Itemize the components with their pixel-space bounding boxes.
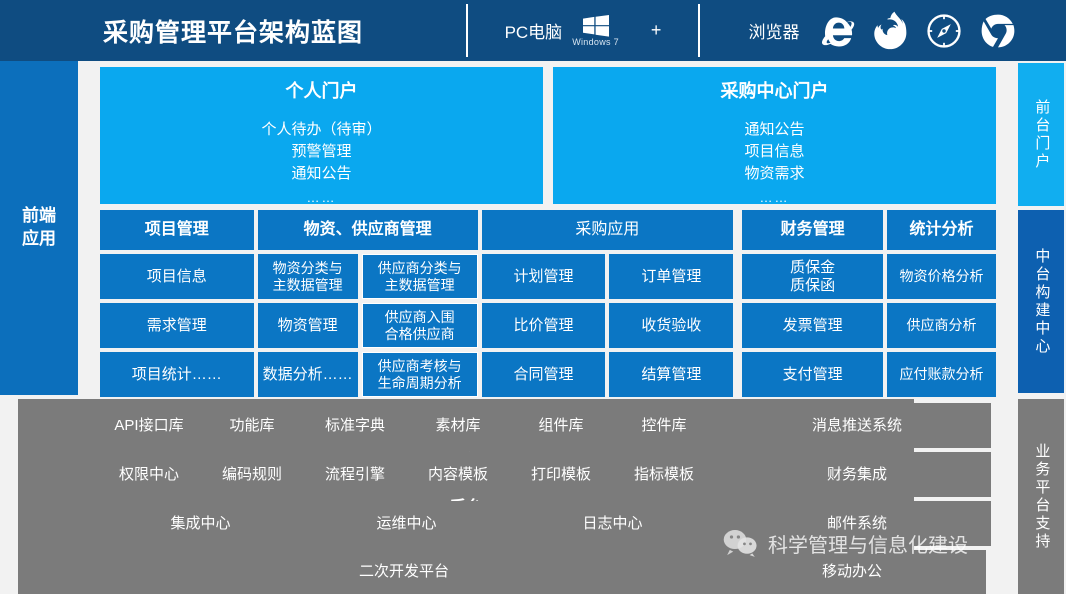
windows-logo-icon: Windows 7 xyxy=(572,15,619,47)
system-cell-coding-rules[interactable]: 编码规则 xyxy=(203,452,301,497)
module-cell-material-price-analysis[interactable]: 物资价格分析 xyxy=(887,254,996,299)
system-row: 集成中心 运维中心 日志中心 邮件系统 xyxy=(100,501,996,546)
module-header-statistical-analysis[interactable]: 统计分析 xyxy=(887,210,996,250)
system-cell-function-library[interactable]: 功能库 xyxy=(203,403,301,448)
portal-personal-title: 个人门户 xyxy=(286,77,358,103)
cell-line: 生命周期分析 xyxy=(378,375,462,391)
diagram-canvas: 个人门户 个人待办（待审） 预警管理 通知公告 …… 采购中心门户 通知公告 项… xyxy=(82,61,1014,594)
portal-item: 项目信息 xyxy=(744,141,804,163)
cell-line: 主数据管理 xyxy=(385,277,455,293)
module-header-project-management[interactable]: 项目管理 xyxy=(100,210,254,250)
pc-label: PC电脑 xyxy=(505,18,563,43)
system-cell-integration-center[interactable]: 集成中心 xyxy=(100,501,301,546)
cell-line: 供应商考核与 xyxy=(378,358,462,374)
cell-line: 主数据管理 xyxy=(273,277,343,293)
system-row: API接口库 功能库 标准字典 素材库 组件库 控件库 消息推送系统 xyxy=(100,403,996,448)
system-cell-log-center[interactable]: 日志中心 xyxy=(512,501,713,546)
cell-line: 供应商分类与 xyxy=(378,260,462,276)
rail-midplatform-center: 中台构建中心 xyxy=(1018,210,1064,393)
portal-procurement-center[interactable]: 采购中心门户 通知公告 项目信息 物资需求 …… xyxy=(553,67,996,204)
module-row: 项目统计…… 数据分析…… 供应商考核与 生命周期分析 合同管理 结算管理 支付… xyxy=(100,352,996,397)
system-cell-mobile-office[interactable]: 移动办公 xyxy=(718,550,986,594)
module-cell-payment-management[interactable]: 支付管理 xyxy=(742,352,883,397)
portal-item: 通知公告 xyxy=(744,119,804,141)
chrome-icon xyxy=(978,11,1018,51)
rail-frontend-line2: 应用 xyxy=(22,228,56,251)
module-row: 项目信息 物资分类与 主数据管理 供应商分类与 主数据管理 计划管理 订单管理 … xyxy=(100,254,996,299)
architecture-blueprint-page: 采购管理平台架构蓝图 PC电脑 Windows 7 + 浏览器 xyxy=(0,0,1066,594)
module-cell-invoice-management[interactable]: 发票管理 xyxy=(742,303,883,348)
system-cell-standard-dictionary[interactable]: 标准字典 xyxy=(306,403,404,448)
portal-item: 通知公告 xyxy=(261,163,381,185)
module-cell-quality-deposit-letter[interactable]: 质保金 质保函 xyxy=(742,254,883,299)
module-cell-payable-account-analysis[interactable]: 应付账款分析 xyxy=(887,352,996,397)
module-header-material-supplier-management[interactable]: 物资、供应商管理 xyxy=(258,210,478,250)
browser-label: 浏览器 xyxy=(749,18,800,43)
module-cell-price-comparison-management[interactable]: 比价管理 xyxy=(482,303,606,348)
firefox-icon xyxy=(870,11,910,51)
portal-personal-items: 个人待办（待审） 预警管理 通知公告 xyxy=(261,119,381,184)
system-cell-permission-center[interactable]: 权限中心 xyxy=(100,452,198,497)
system-cell-financial-integration[interactable]: 财务集成 xyxy=(723,452,991,497)
system-cell-secondary-development-platform[interactable]: 二次开发平台 xyxy=(100,550,708,594)
diagram-body: 前端 应用 系统 管理 后台 引擎 前台门户 中台构建中心 业务平台支持 个人门… xyxy=(0,61,1066,594)
module-cell-material-category-master-data[interactable]: 物资分类与 主数据管理 xyxy=(258,254,358,299)
module-cell-goods-receipt-acceptance[interactable]: 收货验收 xyxy=(609,303,733,348)
plus-symbol: + xyxy=(651,20,662,41)
system-cell-operations-center[interactable]: 运维中心 xyxy=(306,501,507,546)
module-cell-supplier-shortlist-qualified[interactable]: 供应商入围 合格供应商 xyxy=(362,303,478,348)
module-header-procurement-application[interactable]: 采购应用 xyxy=(482,210,734,250)
rail-frontend-application: 前端 应用 xyxy=(0,61,78,395)
system-cell-api-library[interactable]: API接口库 xyxy=(100,403,198,448)
system-cell-material-library[interactable]: 素材库 xyxy=(409,403,507,448)
browser-section: 浏览器 xyxy=(700,0,1066,61)
cell-line: 质保函 xyxy=(790,277,835,294)
system-cell-content-template[interactable]: 内容模板 xyxy=(409,452,507,497)
module-header-row: 项目管理 物资、供应商管理 采购应用 财务管理 统计分析 xyxy=(100,210,996,250)
module-cell-settlement-management[interactable]: 结算管理 xyxy=(609,352,733,397)
cell-line: 供应商入围 xyxy=(385,309,455,325)
module-cell-data-analysis[interactable]: 数据分析…… xyxy=(258,352,358,397)
cell-line: 质保金 xyxy=(790,259,835,276)
module-cell-project-statistics[interactable]: 项目统计…… xyxy=(100,352,254,397)
module-cell-project-info[interactable]: 项目信息 xyxy=(100,254,254,299)
system-cell-message-push-system[interactable]: 消息推送系统 xyxy=(723,403,991,448)
portal-procurement-items: 通知公告 项目信息 物资需求 xyxy=(744,119,804,184)
module-cell-demand-management[interactable]: 需求管理 xyxy=(100,303,254,348)
portal-personal-ellipsis: …… xyxy=(307,190,337,205)
system-cell-process-engine[interactable]: 流程引擎 xyxy=(306,452,404,497)
portal-row: 个人门户 个人待办（待审） 预警管理 通知公告 …… 采购中心门户 通知公告 项… xyxy=(100,67,996,204)
portal-item: 预警管理 xyxy=(261,141,381,163)
system-cell-indicator-template[interactable]: 指标模板 xyxy=(615,452,713,497)
safari-icon xyxy=(924,11,964,51)
module-header-financial-management[interactable]: 财务管理 xyxy=(742,210,883,250)
module-band: 项目管理 物资、供应商管理 采购应用 财务管理 统计分析 项目信息 物资分类与 … xyxy=(100,210,996,393)
portal-procurement-title: 采购中心门户 xyxy=(721,77,829,103)
system-cell-mail-system[interactable]: 邮件系统 xyxy=(723,501,991,546)
system-band: API接口库 功能库 标准字典 素材库 组件库 控件库 消息推送系统 权限中心 … xyxy=(100,399,996,594)
header-bar: 采购管理平台架构蓝图 PC电脑 Windows 7 + 浏览器 xyxy=(0,0,1066,61)
portal-personal[interactable]: 个人门户 个人待办（待审） 预警管理 通知公告 …… xyxy=(100,67,543,204)
portal-item: 个人待办（待审） xyxy=(261,119,381,141)
page-title: 采购管理平台架构蓝图 xyxy=(0,0,466,61)
system-cell-component-library[interactable]: 组件库 xyxy=(512,403,610,448)
module-cell-order-management[interactable]: 订单管理 xyxy=(609,254,733,299)
module-cell-supplier-assessment-lifecycle[interactable]: 供应商考核与 生命周期分析 xyxy=(362,352,478,397)
system-cell-control-library[interactable]: 控件库 xyxy=(615,403,713,448)
pc-section: PC电脑 Windows 7 + xyxy=(468,0,698,61)
portal-procurement-ellipsis: …… xyxy=(760,190,790,205)
module-cell-supplier-category-master-data[interactable]: 供应商分类与 主数据管理 xyxy=(362,254,478,299)
windows-version-label: Windows 7 xyxy=(572,38,619,47)
portal-item: 物资需求 xyxy=(744,163,804,185)
rail-business-platform-support: 业务平台支持 xyxy=(1018,399,1064,594)
rail-front-portal: 前台门户 xyxy=(1018,63,1064,206)
module-cell-contract-management[interactable]: 合同管理 xyxy=(482,352,606,397)
module-row: 需求管理 物资管理 供应商入围 合格供应商 比价管理 收货验收 发票管理 供应商… xyxy=(100,303,996,348)
cell-line: 合格供应商 xyxy=(385,326,455,342)
system-row: 二次开发平台 移动办公 xyxy=(100,550,996,594)
module-cell-material-management[interactable]: 物资管理 xyxy=(258,303,358,348)
rail-frontend-line1: 前端 xyxy=(22,205,56,228)
system-row: 权限中心 编码规则 流程引擎 内容模板 打印模板 指标模板 财务集成 xyxy=(100,452,996,497)
module-cell-plan-management[interactable]: 计划管理 xyxy=(482,254,606,299)
internet-explorer-icon xyxy=(816,11,856,51)
system-cell-print-template[interactable]: 打印模板 xyxy=(512,452,610,497)
module-cell-supplier-analysis[interactable]: 供应商分析 xyxy=(887,303,996,348)
cell-line: 物资分类与 xyxy=(273,260,343,276)
